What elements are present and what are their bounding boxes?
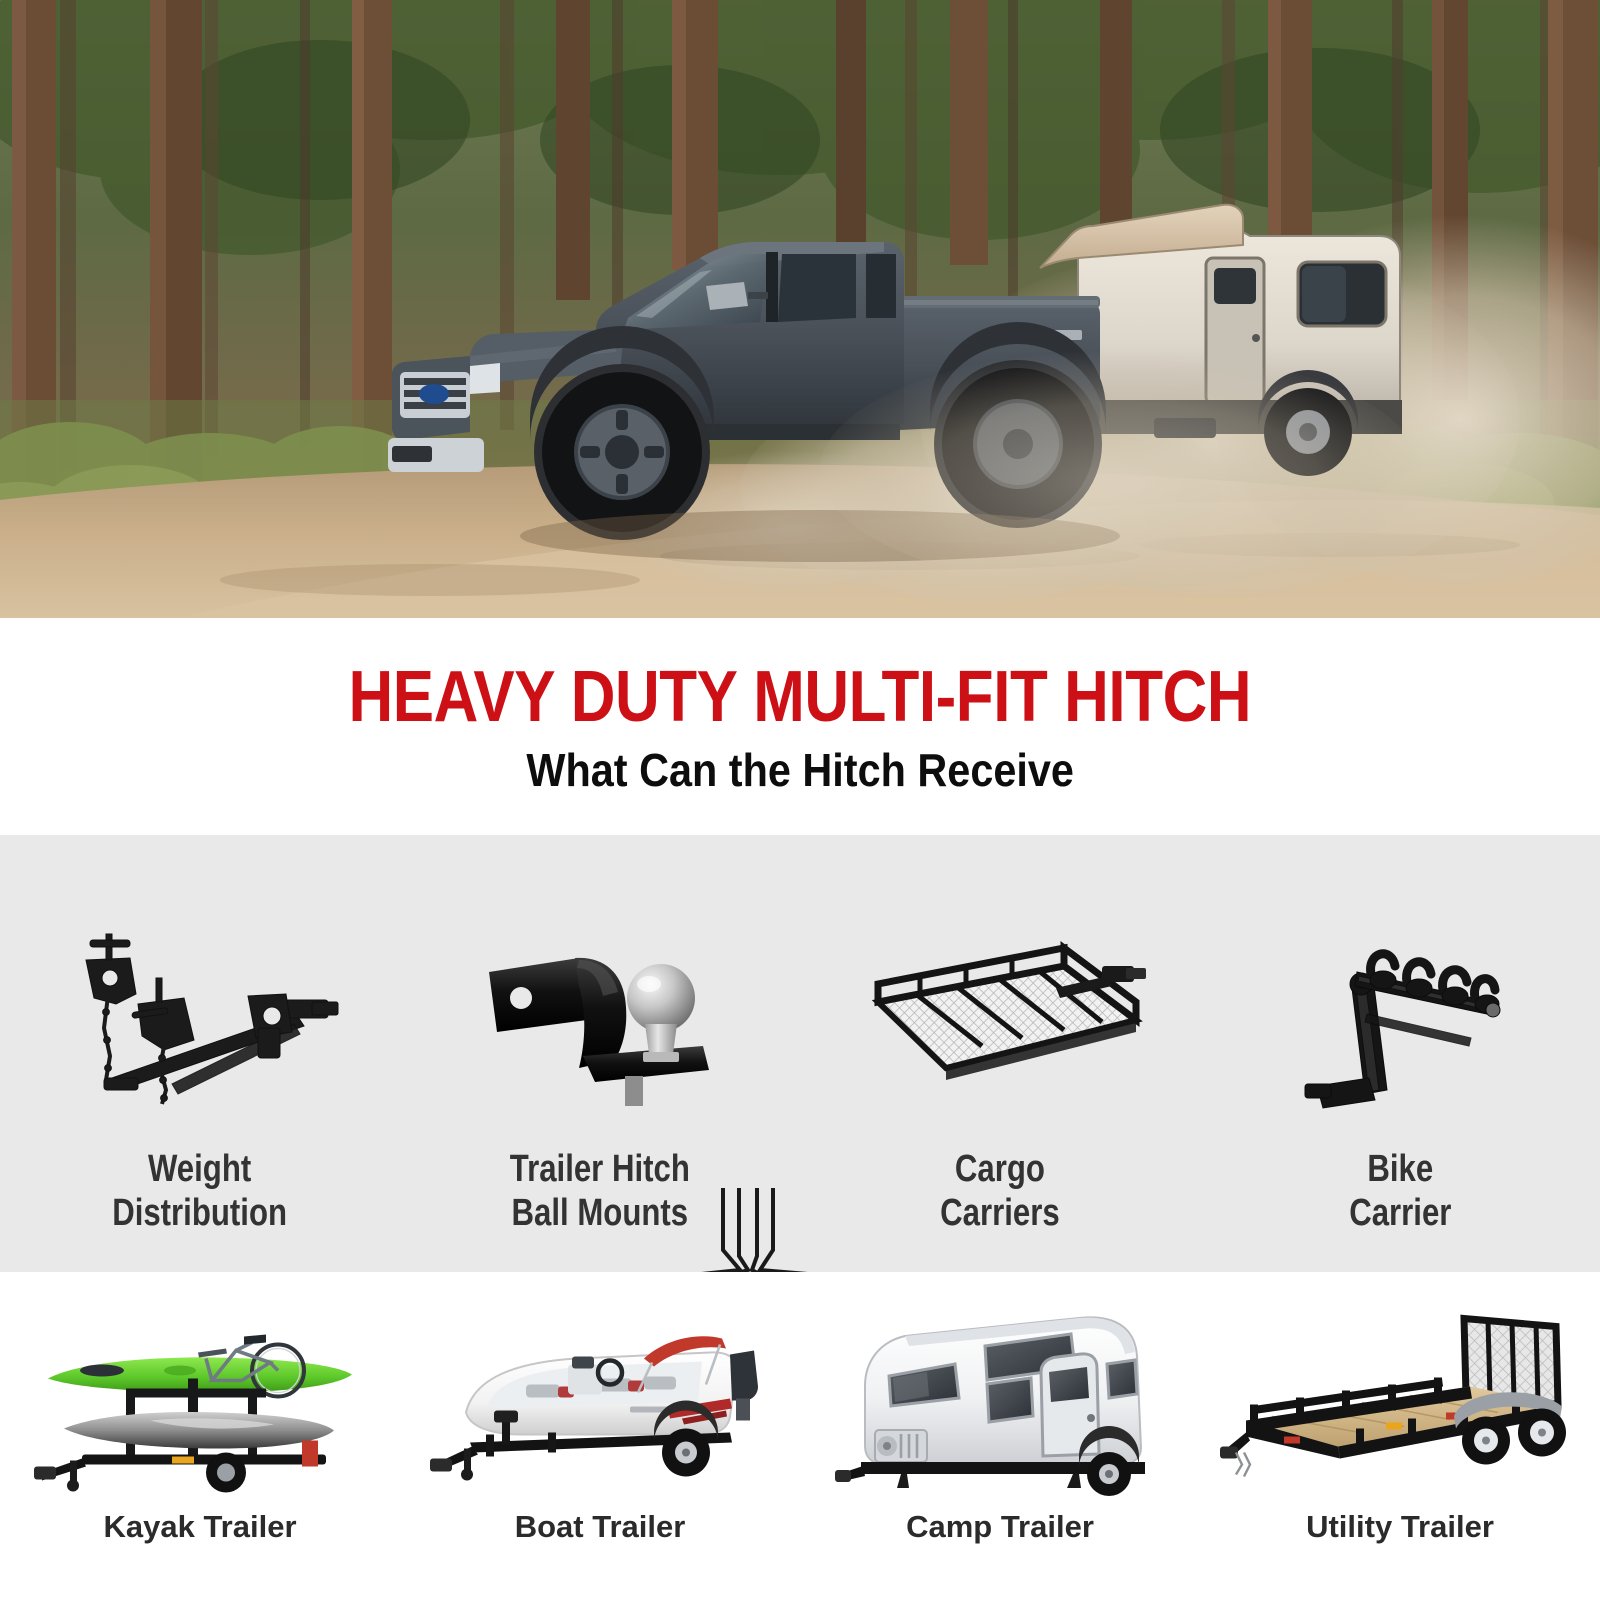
trailers-section: Kayak Trailer [0,1272,1600,1600]
accessory-label-line2: Carrier [1349,1192,1451,1234]
accessory-card-bike-carrier[interactable]: Bike Carrier [1200,835,1600,1272]
accessories-row: Weight Distribution [0,835,1600,1272]
title-band: HEAVY DUTY MULTI-FIT HITCH What Can the … [0,618,1600,835]
cargo-carrier-basket-icon [800,900,1200,1135]
accessory-label: Bike Carrier [1349,1147,1451,1235]
trailer-hitch-ball-mount-icon [400,900,800,1135]
hero-image [0,0,1600,618]
accessory-label-line1: Weight [148,1148,251,1190]
infographic-page: HEAVY DUTY MULTI-FIT HITCH What Can the … [0,0,1600,1600]
utility-trailer-icon [1200,1290,1600,1505]
camp-trailer-icon [800,1290,1200,1505]
trailers-row: Kayak Trailer [0,1272,1600,1600]
accessories-section: Weight Distribution [0,835,1600,1272]
boat-trailer-icon [400,1290,800,1505]
kayak-trailer-icon [0,1290,400,1505]
accessory-label-line2: Ball Mounts [512,1192,689,1234]
trailer-card-camp[interactable]: Camp Trailer [800,1272,1200,1600]
accessory-card-ball-mount[interactable]: Trailer Hitch Ball Mounts [400,835,800,1272]
page-title: HEAVY DUTY MULTI-FIT HITCH [349,661,1252,733]
trailer-card-kayak[interactable]: Kayak Trailer [0,1272,400,1600]
trailer-label: Utility Trailer [1306,1511,1494,1542]
bike-carrier-rack-icon [1200,900,1600,1135]
accessory-label-line2: Carriers [940,1192,1060,1234]
accessory-label-line1: Bike [1367,1148,1433,1190]
accessory-label: Cargo Carriers [940,1147,1060,1235]
accessory-card-weight-distribution[interactable]: Weight Distribution [0,835,400,1272]
accessory-label-line2: Distribution [113,1192,288,1234]
accessory-label: Weight Distribution [113,1147,288,1235]
trailer-label: Camp Trailer [906,1511,1094,1542]
trailer-card-utility[interactable]: Utility Trailer [1200,1272,1600,1600]
accessory-card-cargo-carrier[interactable]: Cargo Carriers [800,835,1200,1272]
trailer-label: Boat Trailer [515,1511,686,1542]
accessory-label-line1: Trailer Hitch [510,1148,690,1190]
accessory-label-line1: Cargo [955,1148,1045,1190]
trailer-card-boat[interactable]: Boat Trailer [400,1272,800,1600]
page-subtitle: What Can the Hitch Receive [526,747,1074,793]
accessory-label: Trailer Hitch Ball Mounts [510,1147,690,1235]
weight-distribution-hitch-icon [0,900,400,1135]
trailer-label: Kayak Trailer [103,1511,296,1542]
